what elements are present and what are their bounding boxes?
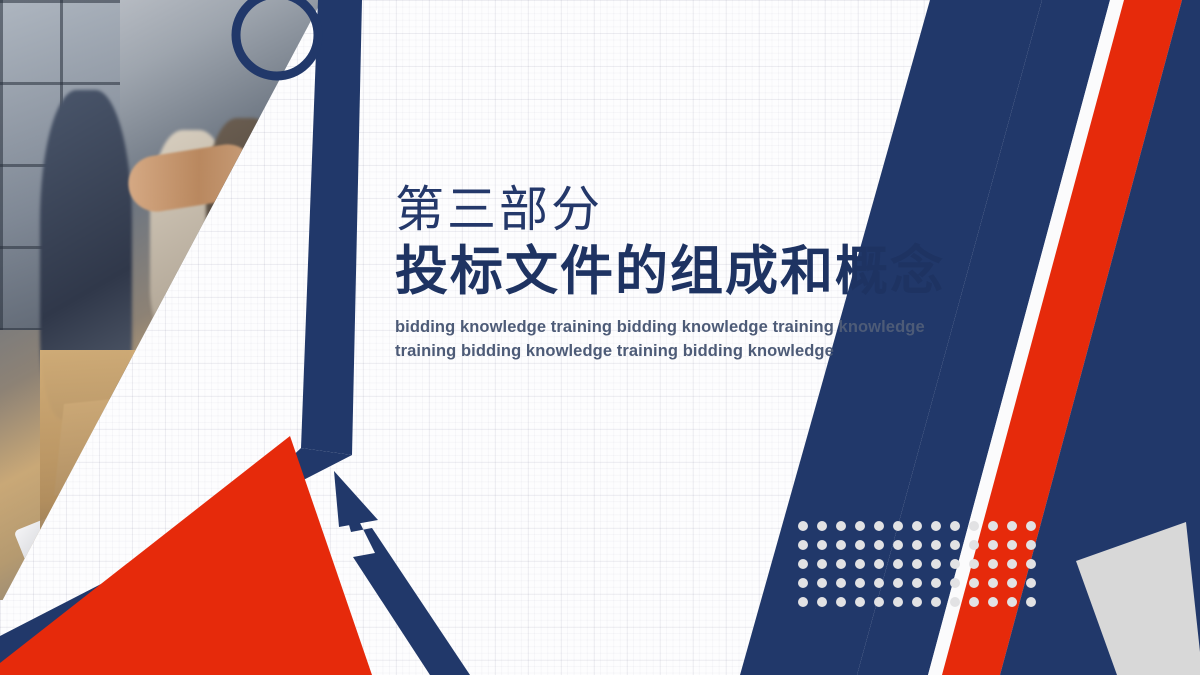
circle-outline-icon xyxy=(236,0,318,76)
title-block: 第三部分 投标文件的组成和概念 bidding knowledge traini… xyxy=(395,185,995,364)
slide-canvas: 第三部分 投标文件的组成和概念 bidding knowledge traini… xyxy=(0,0,1200,675)
section-kicker: 第三部分 xyxy=(395,185,995,236)
subtitle-text: bidding knowledge training bidding knowl… xyxy=(395,316,975,364)
left-diagonal-navy-stripe xyxy=(301,0,362,455)
page-title: 投标文件的组成和概念 xyxy=(395,242,995,301)
